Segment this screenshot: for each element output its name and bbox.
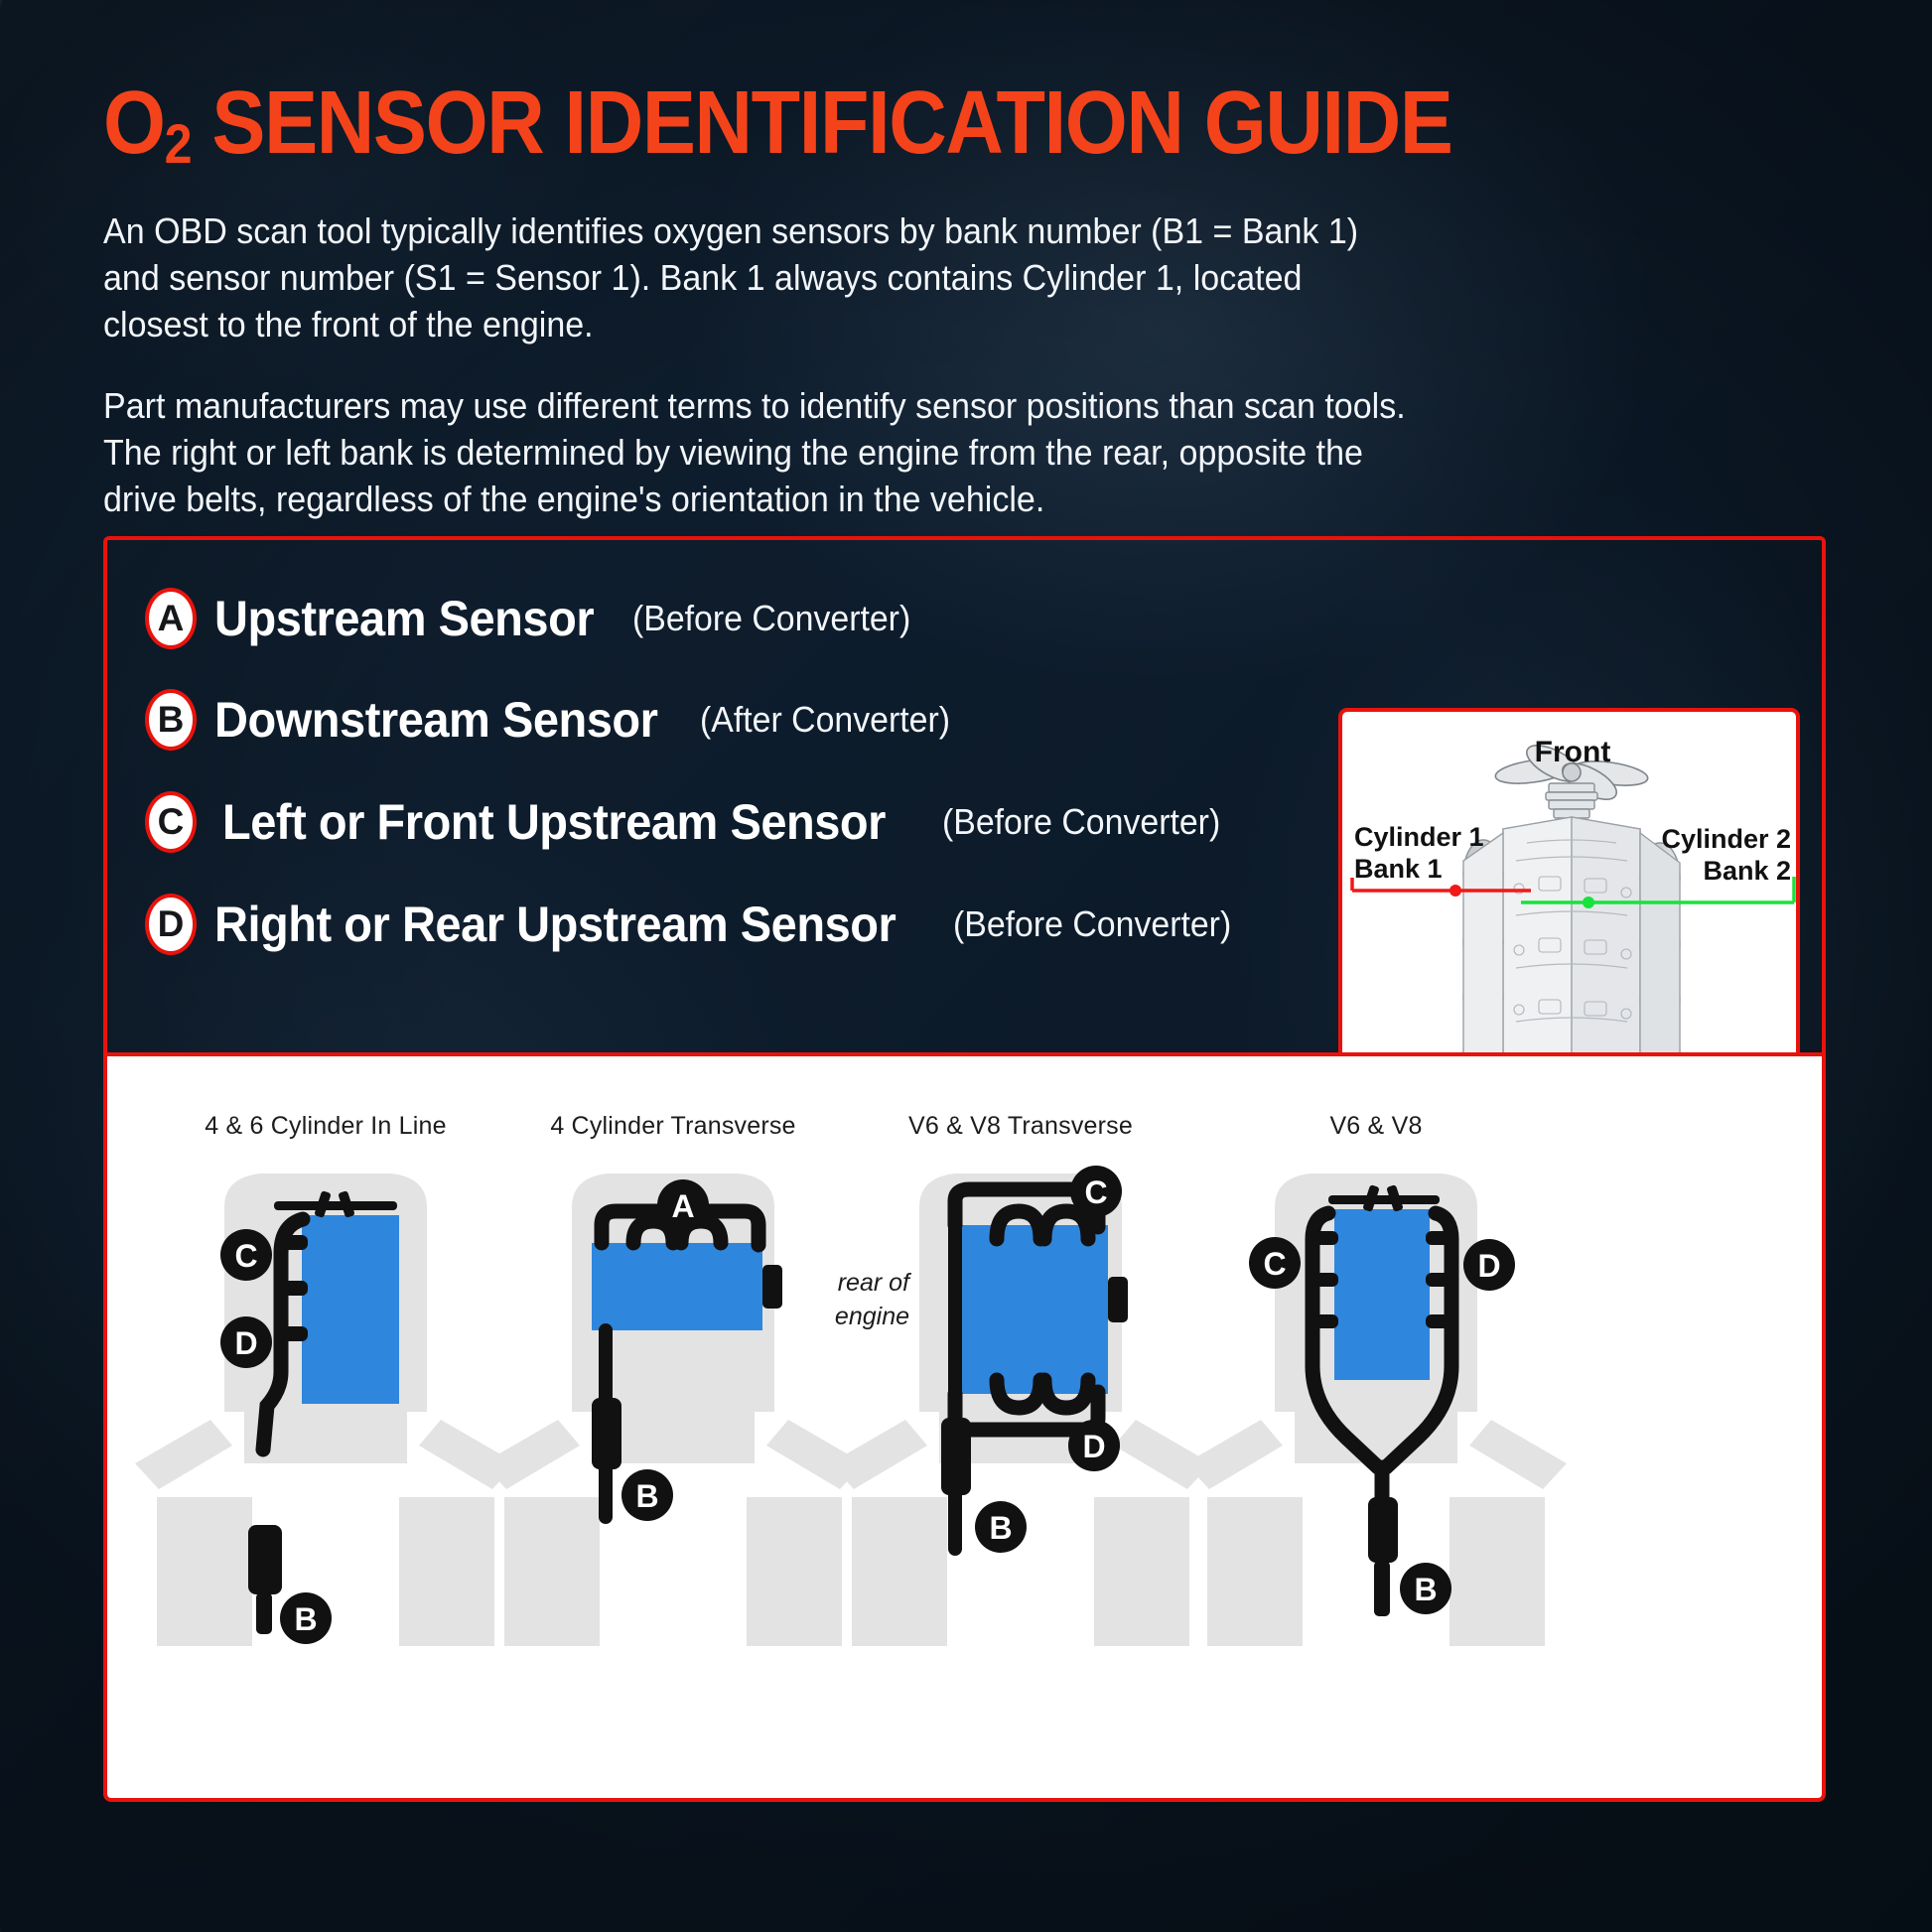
marker-b-1-label: B xyxy=(635,1478,658,1514)
catalytic-converter-3 xyxy=(1368,1497,1398,1563)
vehicle-diagram-v-transverse: V6 & V8 Transverse xyxy=(822,1112,1219,1747)
vehicle-title-1: 4 Cylinder Transverse xyxy=(475,1112,872,1141)
engine-block-2 xyxy=(959,1225,1108,1394)
transmission-2 xyxy=(1108,1277,1128,1322)
page-title: O2 SENSOR IDENTIFICATION GUIDE xyxy=(103,77,1533,171)
bank2-label: Bank 2 xyxy=(1703,856,1791,886)
transmission-1 xyxy=(762,1265,782,1309)
legend-sub-a: (Before Converter) xyxy=(632,598,910,639)
vehicle-diagram-4cyl-transverse: 4 Cylinder Transverse xyxy=(475,1112,872,1747)
intro-paragraph-1: An OBD scan tool typically identifies ox… xyxy=(103,208,1408,347)
vehicle-title-3: V6 & V8 xyxy=(1177,1112,1575,1141)
legend-sub-d: (Before Converter) xyxy=(953,903,1231,945)
legend-row-b: B Downstream Sensor (After Converter) xyxy=(145,689,966,751)
title-o: O xyxy=(103,73,165,173)
rear-of-engine-note-line1: rear of xyxy=(838,1269,912,1297)
legend-label-b: Downstream Sensor xyxy=(214,691,657,749)
marker-d-3-label: D xyxy=(1477,1248,1500,1284)
marker-b-0-label: B xyxy=(294,1601,317,1637)
legend-label-a: Upstream Sensor xyxy=(214,590,594,647)
badge-d: D xyxy=(145,894,197,955)
infographic-root: O2 SENSOR IDENTIFICATION GUIDE An OBD sc… xyxy=(0,0,1932,1932)
vehicle-diagram-v-longitudinal: V6 & V8 xyxy=(1177,1112,1575,1747)
legend-sub-b: (After Converter) xyxy=(700,699,950,741)
legend-row-c: C Left or Front Upstream Sensor (Before … xyxy=(145,791,1238,853)
bank1-dot xyxy=(1449,885,1461,897)
catalytic-converter-0 xyxy=(248,1525,282,1594)
badge-b: B xyxy=(145,689,197,751)
legend-label-c: Left or Front Upstream Sensor xyxy=(222,793,886,851)
tailpipe-0 xyxy=(256,1592,272,1634)
engine-block-0 xyxy=(302,1215,399,1404)
catalytic-converter-1 xyxy=(592,1398,621,1469)
pulley-icon xyxy=(1546,783,1597,818)
marker-b-2-label: B xyxy=(989,1510,1012,1546)
marker-d-0-label: D xyxy=(234,1325,257,1361)
title-rest: SENSOR IDENTIFICATION GUIDE xyxy=(191,73,1451,173)
vehicle-layout-panel: 4 & 6 Cylinder In Line xyxy=(103,1052,1826,1802)
vehicle-title-0: 4 & 6 Cylinder In Line xyxy=(127,1112,524,1141)
badge-c: C xyxy=(145,791,197,853)
marker-c-0-label: C xyxy=(234,1238,257,1274)
badge-a: A xyxy=(145,588,197,649)
inline-engine-svg: C D B xyxy=(127,1148,524,1704)
marker-c-3-label: C xyxy=(1263,1246,1286,1282)
intro-paragraph-2: Part manufacturers may use different ter… xyxy=(103,383,1408,522)
cylinder2-label: Cylinder 2 xyxy=(1661,824,1791,854)
catalytic-converter-2 xyxy=(941,1418,971,1495)
longitudinal-v-svg: C D B xyxy=(1177,1148,1575,1704)
legend-sub-c: (Before Converter) xyxy=(942,801,1220,843)
legend-label-d: Right or Rear Upstream Sensor xyxy=(214,896,896,953)
bank1-label: Bank 1 xyxy=(1354,854,1443,884)
legend-row-d: D Right or Rear Upstream Sensor (Before … xyxy=(145,894,1249,955)
marker-b-3-label: B xyxy=(1414,1572,1437,1607)
marker-a-1-label: A xyxy=(671,1188,694,1224)
transverse-v-svg: rear of engine C D B xyxy=(822,1148,1219,1704)
transverse-4cyl-svg: A B xyxy=(475,1148,872,1704)
cylinder1-label: Cylinder 1 xyxy=(1354,822,1484,852)
engine-block-3 xyxy=(1334,1209,1430,1380)
vehicle-diagram-inline: 4 & 6 Cylinder In Line xyxy=(127,1112,524,1747)
vehicle-title-2: V6 & V8 Transverse xyxy=(822,1112,1219,1141)
marker-c-2-label: C xyxy=(1084,1174,1107,1210)
engine-block-1 xyxy=(592,1243,762,1330)
title-subscript: 2 xyxy=(165,112,192,175)
marker-d-2-label: D xyxy=(1082,1429,1105,1464)
engine-front-label: Front xyxy=(1535,736,1611,768)
rear-of-engine-note-line2: engine xyxy=(835,1303,909,1330)
legend-row-a: A Upstream Sensor (Before Converter) xyxy=(145,588,928,649)
intro-text: An OBD scan tool typically identifies ox… xyxy=(103,208,1408,559)
tailpipe-3 xyxy=(1374,1561,1390,1616)
bank2-dot xyxy=(1583,897,1594,908)
